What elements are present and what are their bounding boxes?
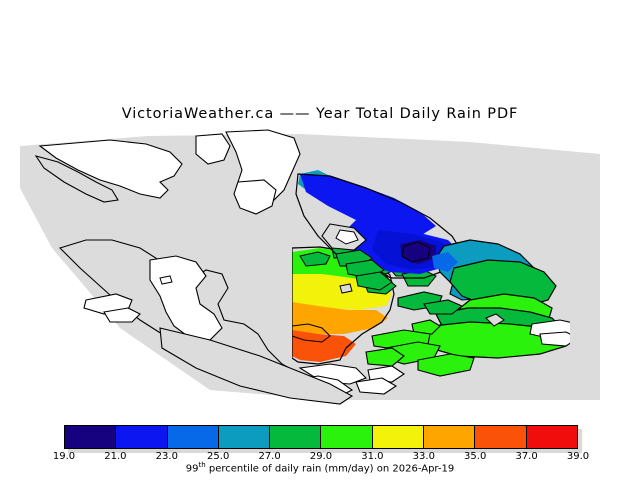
caption-text: percentile of daily rain (mm/day) on 202… bbox=[206, 463, 455, 474]
colorbar-segment-8[interactable] bbox=[475, 426, 526, 448]
colorbar-segment-0[interactable] bbox=[65, 426, 116, 448]
colorbar[interactable] bbox=[64, 425, 578, 449]
caption-ordinal-suffix: th bbox=[199, 461, 206, 469]
map-canvas[interactable] bbox=[0, 128, 640, 408]
colorbar-segment-7[interactable] bbox=[424, 426, 475, 448]
colorbar-segment-4[interactable] bbox=[270, 426, 321, 448]
colorbar-segment-6[interactable] bbox=[373, 426, 424, 448]
colorbar-segment-5[interactable] bbox=[321, 426, 372, 448]
colorbar-segments[interactable] bbox=[64, 425, 578, 449]
colorbar-segment-2[interactable] bbox=[168, 426, 219, 448]
colorbar-segment-1[interactable] bbox=[116, 426, 167, 448]
weather-map-page: VictoriaWeather.ca —— Year Total Daily R… bbox=[0, 0, 640, 480]
map-svg bbox=[0, 128, 640, 408]
page-title: VictoriaWeather.ca —— Year Total Daily R… bbox=[0, 106, 640, 122]
colorbar-caption: 99th percentile of daily rain (mm/day) o… bbox=[0, 461, 640, 474]
colorbar-segment-9[interactable] bbox=[527, 426, 577, 448]
colorbar-segment-3[interactable] bbox=[219, 426, 270, 448]
caption-number: 99 bbox=[186, 463, 199, 474]
